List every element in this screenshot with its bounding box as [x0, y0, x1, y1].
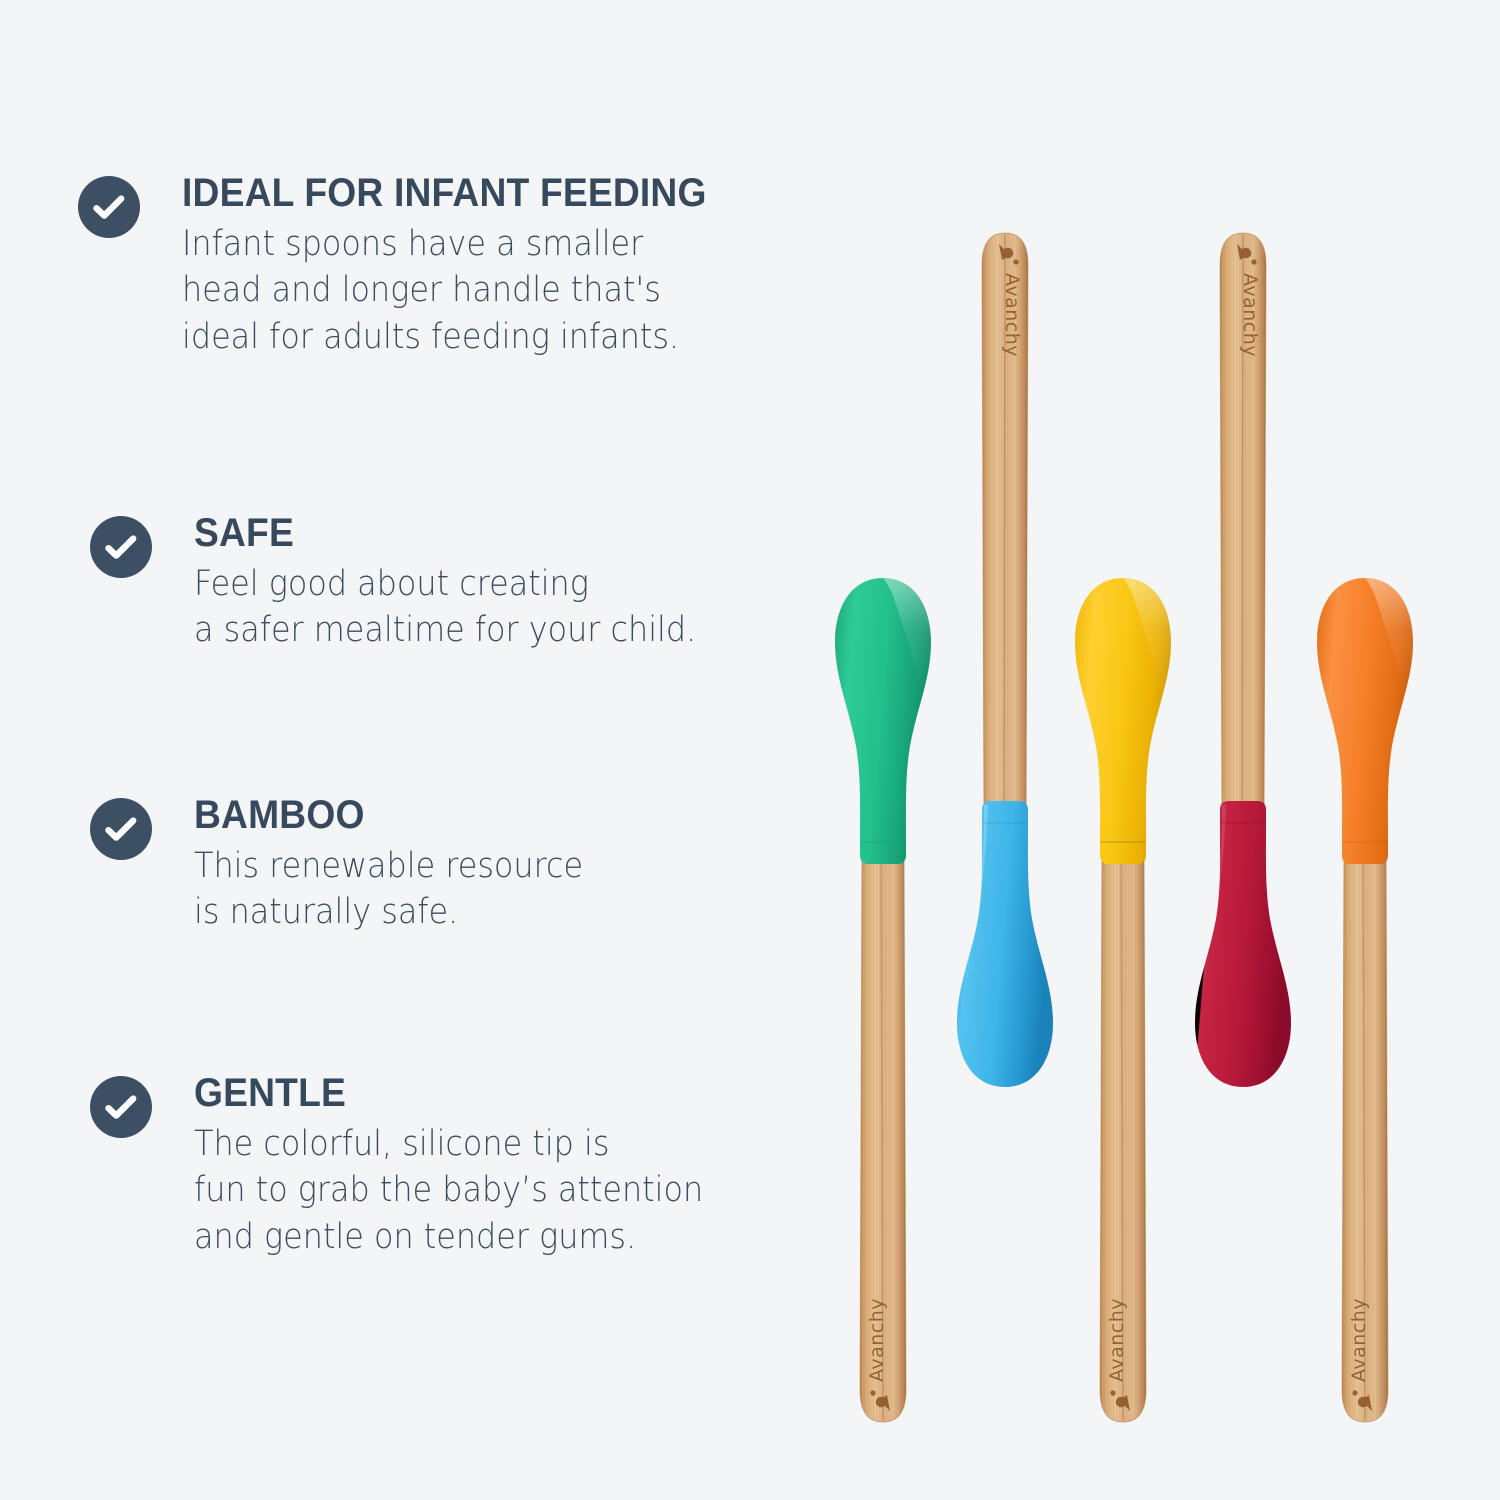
- check-circle-icon: [90, 1076, 152, 1138]
- silicone-tip: [1075, 578, 1171, 864]
- feature-title: IDEAL FOR INFANT FEEDING: [182, 172, 707, 215]
- feature-body: Infant spoons have a smaller head and lo…: [182, 221, 695, 360]
- feature-title: GENTLE: [194, 1072, 714, 1115]
- feature-title: SAFE: [194, 512, 707, 555]
- yellow-spoon: Avanchy: [1058, 550, 1188, 1450]
- silicone-tip: [1317, 578, 1413, 864]
- feature-body: The colorful, silicone tip is fun to gra…: [194, 1121, 703, 1260]
- feature-body: This renewable resource is naturally saf…: [194, 843, 583, 935]
- feature-item-bamboo: BAMBOO This renewable resource is natura…: [90, 794, 622, 936]
- silicone-tip: [835, 578, 931, 864]
- silicone-tip: [1195, 801, 1291, 1087]
- orange-spoon: Avanchy: [1300, 550, 1430, 1450]
- svg-text:Avanchy: Avanchy: [1001, 273, 1023, 357]
- svg-text:Avanchy: Avanchy: [1239, 273, 1261, 357]
- blue-spoon: Avanchy: [940, 205, 1070, 1105]
- check-circle-icon: [78, 176, 140, 238]
- feature-item-gentle: GENTLE The colorful, silicone tip is fun…: [90, 1072, 754, 1260]
- check-circle-icon: [90, 798, 152, 860]
- green-spoon: Avanchy: [818, 550, 948, 1450]
- product-image: Avanchy: [800, 150, 1480, 1350]
- infographic-page: IDEAL FOR INFANT FEEDING Infant spoons h…: [0, 0, 1500, 1500]
- feature-body: Feel good about creating a safer mealtim…: [194, 561, 696, 653]
- svg-text:Avanchy: Avanchy: [1106, 1298, 1128, 1382]
- check-circle-icon: [90, 516, 152, 578]
- feature-item-ideal-for-infant-feeding: IDEAL FOR INFANT FEEDING Infant spoons h…: [78, 172, 746, 360]
- svg-text:Avanchy: Avanchy: [1348, 1298, 1370, 1382]
- feature-title: BAMBOO: [194, 794, 592, 837]
- red-spoon: Avanchy: [1178, 205, 1308, 1105]
- svg-text:Avanchy: Avanchy: [866, 1298, 888, 1382]
- feature-item-safe: SAFE Feel good about creating a safer me…: [90, 512, 746, 654]
- silicone-tip: [957, 801, 1053, 1087]
